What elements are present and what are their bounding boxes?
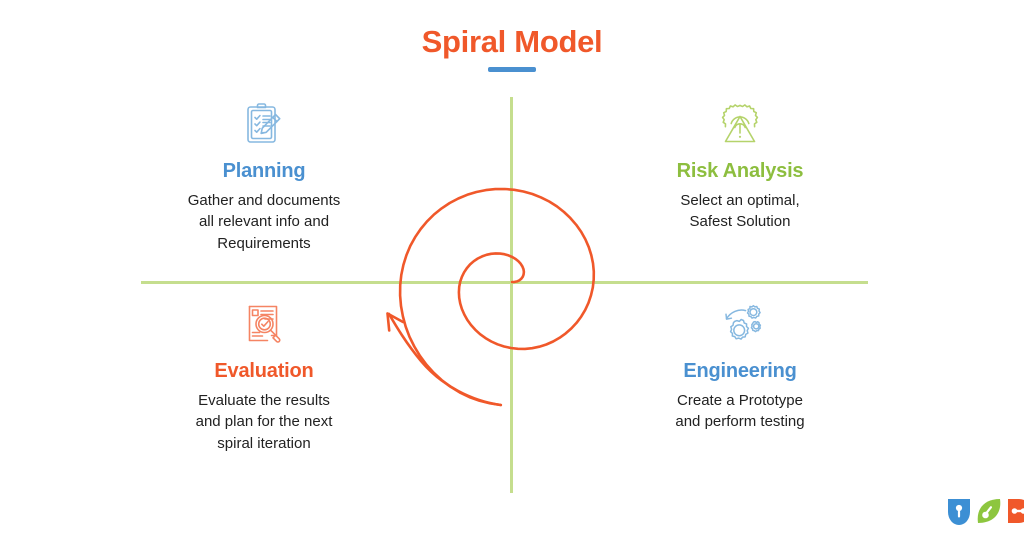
logo-tile-green	[976, 497, 1002, 525]
page-title: Spiral Model	[0, 24, 1024, 60]
gears-arrow-icon	[590, 300, 890, 348]
quadrant-title-evaluation: Evaluation	[114, 360, 414, 383]
document-magnifier-check-icon	[114, 300, 414, 348]
quadrant-risk-analysis: Risk Analysis Select an optimal, Safest …	[590, 100, 890, 233]
gear-warning-triangle-icon	[590, 100, 890, 148]
logo-tile-blue	[946, 497, 972, 525]
quadrant-title-risk-analysis: Risk Analysis	[590, 160, 890, 183]
quadrant-description-engineering: Create a Prototype and perform testing	[590, 390, 890, 433]
quadrant-title-planning: Planning	[114, 160, 414, 183]
title-underline	[488, 67, 536, 72]
quadrant-description-risk-analysis: Select an optimal, Safest Solution	[590, 190, 890, 233]
spiral-model-diagram: Spiral Model	[0, 0, 1024, 534]
quadrant-planning: Planning Gather and documents all releva…	[114, 100, 414, 254]
quadrant-evaluation: Evaluation Evaluate the results and plan…	[114, 300, 414, 454]
brand-logo	[946, 497, 1024, 525]
clipboard-checklist-pencil-icon	[114, 100, 414, 148]
quadrant-description-planning: Gather and documents all relevant info a…	[114, 190, 414, 254]
quadrant-title-engineering: Engineering	[590, 360, 890, 383]
logo-tile-orange	[1006, 497, 1024, 525]
quadrant-engineering: Engineering Create a Prototype and perfo…	[590, 300, 890, 433]
spiral-path	[400, 189, 594, 405]
quadrant-description-evaluation: Evaluate the results and plan for the ne…	[114, 390, 414, 454]
